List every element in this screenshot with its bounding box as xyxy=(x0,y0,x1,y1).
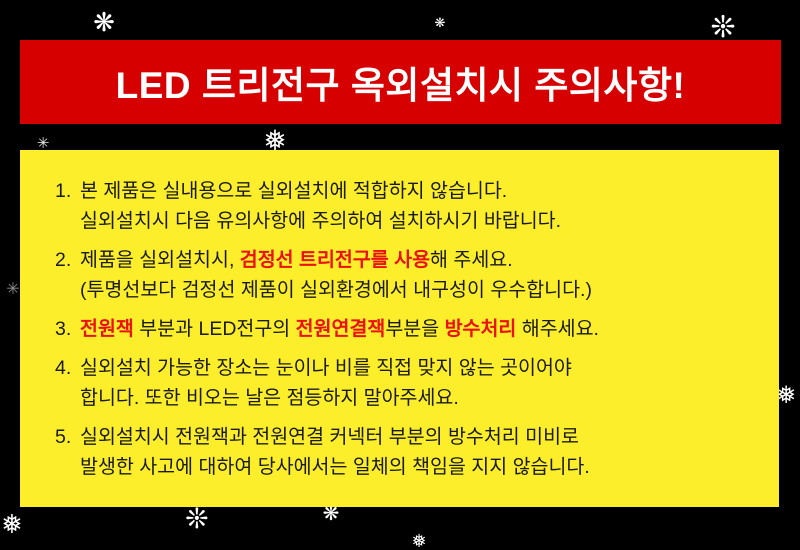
notice-item-number: 3. xyxy=(55,314,80,344)
plain-text: 실외설치시 다음 유의사항에 주의하여 설치하시기 바랍니다. xyxy=(80,210,561,232)
notice-item: 2.제품을 실외설치시, 검정선 트리전구를 사용해 주세요.(투명선보다 검정… xyxy=(55,245,761,305)
highlighted-text: 전원연결잭 xyxy=(296,318,386,340)
notice-item-line: 전원잭 부분과 LED전구의 전원연결잭부분을 방수처리 해주세요. xyxy=(80,314,761,344)
snowflake-icon: ✳ xyxy=(5,282,21,298)
notice-item-line: 실외설치시 전원잭과 전원연결 커넥터 부분의 방수처리 미비로 xyxy=(80,422,761,452)
plain-text: 실외설치시 전원잭과 전원연결 커넥터 부분의 방수처리 미비로 xyxy=(80,426,579,448)
snowflake-icon: ❅ xyxy=(410,532,428,550)
notice-item-text: 전원잭 부분과 LED전구의 전원연결잭부분을 방수처리 해주세요. xyxy=(80,314,761,344)
notice-item: 1.본 제품은 실내용으로 실외설치에 적합하지 않습니다.실외설치시 다음 유… xyxy=(55,176,761,236)
plain-text: 실외설치 가능한 장소는 눈이나 비를 직접 맞지 않는 곳이어야 xyxy=(80,357,572,379)
notice-panel: 1.본 제품은 실내용으로 실외설치에 적합하지 않습니다.실외설치시 다음 유… xyxy=(20,150,779,507)
plain-text: 부분과 LED전구의 xyxy=(134,318,296,340)
snowflake-icon: ❊ xyxy=(183,505,211,533)
notice-item-number: 2. xyxy=(55,245,80,275)
snowflake-icon: ❅ xyxy=(0,511,25,537)
notice-item-line: 발생한 사고에 대하여 당사에서는 일체의 책임을 지지 않습니다. xyxy=(80,452,761,482)
header-banner: LED 트리전구 옥외설치시 주의사항! xyxy=(20,40,781,124)
notice-item-line: 합니다. 또한 비오는 날은 점등하지 말아주세요. xyxy=(80,383,761,413)
notice-item-text: 실외설치 가능한 장소는 눈이나 비를 직접 맞지 않는 곳이어야합니다. 또한… xyxy=(80,353,761,413)
snowflake-icon: ❋ xyxy=(434,16,447,29)
notice-item-line: 실외설치시 다음 유의사항에 주의하여 설치하시기 바랍니다. xyxy=(80,206,761,236)
plain-text: 해주세요. xyxy=(516,318,599,340)
notice-list: 1.본 제품은 실내용으로 실외설치에 적합하지 않습니다.실외설치시 다음 유… xyxy=(55,176,761,491)
plain-text: 부분을 xyxy=(385,318,444,340)
page-title: LED 트리전구 옥외설치시 주의사항! xyxy=(20,55,781,109)
notice-item-line: 실외설치 가능한 장소는 눈이나 비를 직접 맞지 않는 곳이어야 xyxy=(80,353,761,383)
plain-text: (투명선보다 검정선 제품이 실외환경에서 내구성이 우수합니다.) xyxy=(80,279,592,301)
notice-item: 3.전원잭 부분과 LED전구의 전원연결잭부분을 방수처리 해주세요. xyxy=(55,314,761,344)
notice-item-text: 본 제품은 실내용으로 실외설치에 적합하지 않습니다.실외설치시 다음 유의사… xyxy=(80,176,761,236)
highlighted-text: 전원잭 xyxy=(80,318,134,340)
notice-item: 5.실외설치시 전원잭과 전원연결 커넥터 부분의 방수처리 미비로발생한 사고… xyxy=(55,422,761,482)
plain-text: 합니다. 또한 비오는 날은 점등하지 말아주세요. xyxy=(80,387,459,409)
notice-item-number: 1. xyxy=(55,176,80,206)
notice-item-number: 5. xyxy=(55,422,80,452)
notice-item-line: (투명선보다 검정선 제품이 실외환경에서 내구성이 우수합니다.) xyxy=(80,275,761,305)
highlighted-text: 방수처리 xyxy=(445,318,517,340)
notice-item-number: 4. xyxy=(55,353,80,383)
snowflake-icon: ❊ xyxy=(708,13,738,43)
notice-item-text: 제품을 실외설치시, 검정선 트리전구를 사용해 주세요.(투명선보다 검정선 … xyxy=(80,245,761,305)
snowflake-icon: ❋ xyxy=(321,504,341,524)
plain-text: 해 주세요. xyxy=(430,249,513,271)
plain-text: 발생한 사고에 대하여 당사에서는 일체의 책임을 지지 않습니다. xyxy=(80,456,590,478)
snowflake-icon: ✳ xyxy=(36,136,51,151)
notice-item-text: 실외설치시 전원잭과 전원연결 커넥터 부분의 방수처리 미비로발생한 사고에 … xyxy=(80,422,761,482)
highlighted-text: 검정선 트리전구를 사용 xyxy=(240,249,430,271)
plain-text: 제품을 실외설치시, xyxy=(80,249,240,271)
notice-item-line: 본 제품은 실내용으로 실외설치에 적합하지 않습니다. xyxy=(80,176,761,206)
notice-item: 4.실외설치 가능한 장소는 눈이나 비를 직접 맞지 않는 곳이어야합니다. … xyxy=(55,353,761,413)
snowflake-icon: ❋ xyxy=(91,9,117,35)
poster-canvas: ❋❋❊✳❅✳❅❅❊❋❅ LED 트리전구 옥외설치시 주의사항! 1.본 제품은… xyxy=(0,0,800,550)
notice-item-line: 제품을 실외설치시, 검정선 트리전구를 사용해 주세요. xyxy=(80,245,761,275)
plain-text: 본 제품은 실내용으로 실외설치에 적합하지 않습니다. xyxy=(80,180,507,202)
